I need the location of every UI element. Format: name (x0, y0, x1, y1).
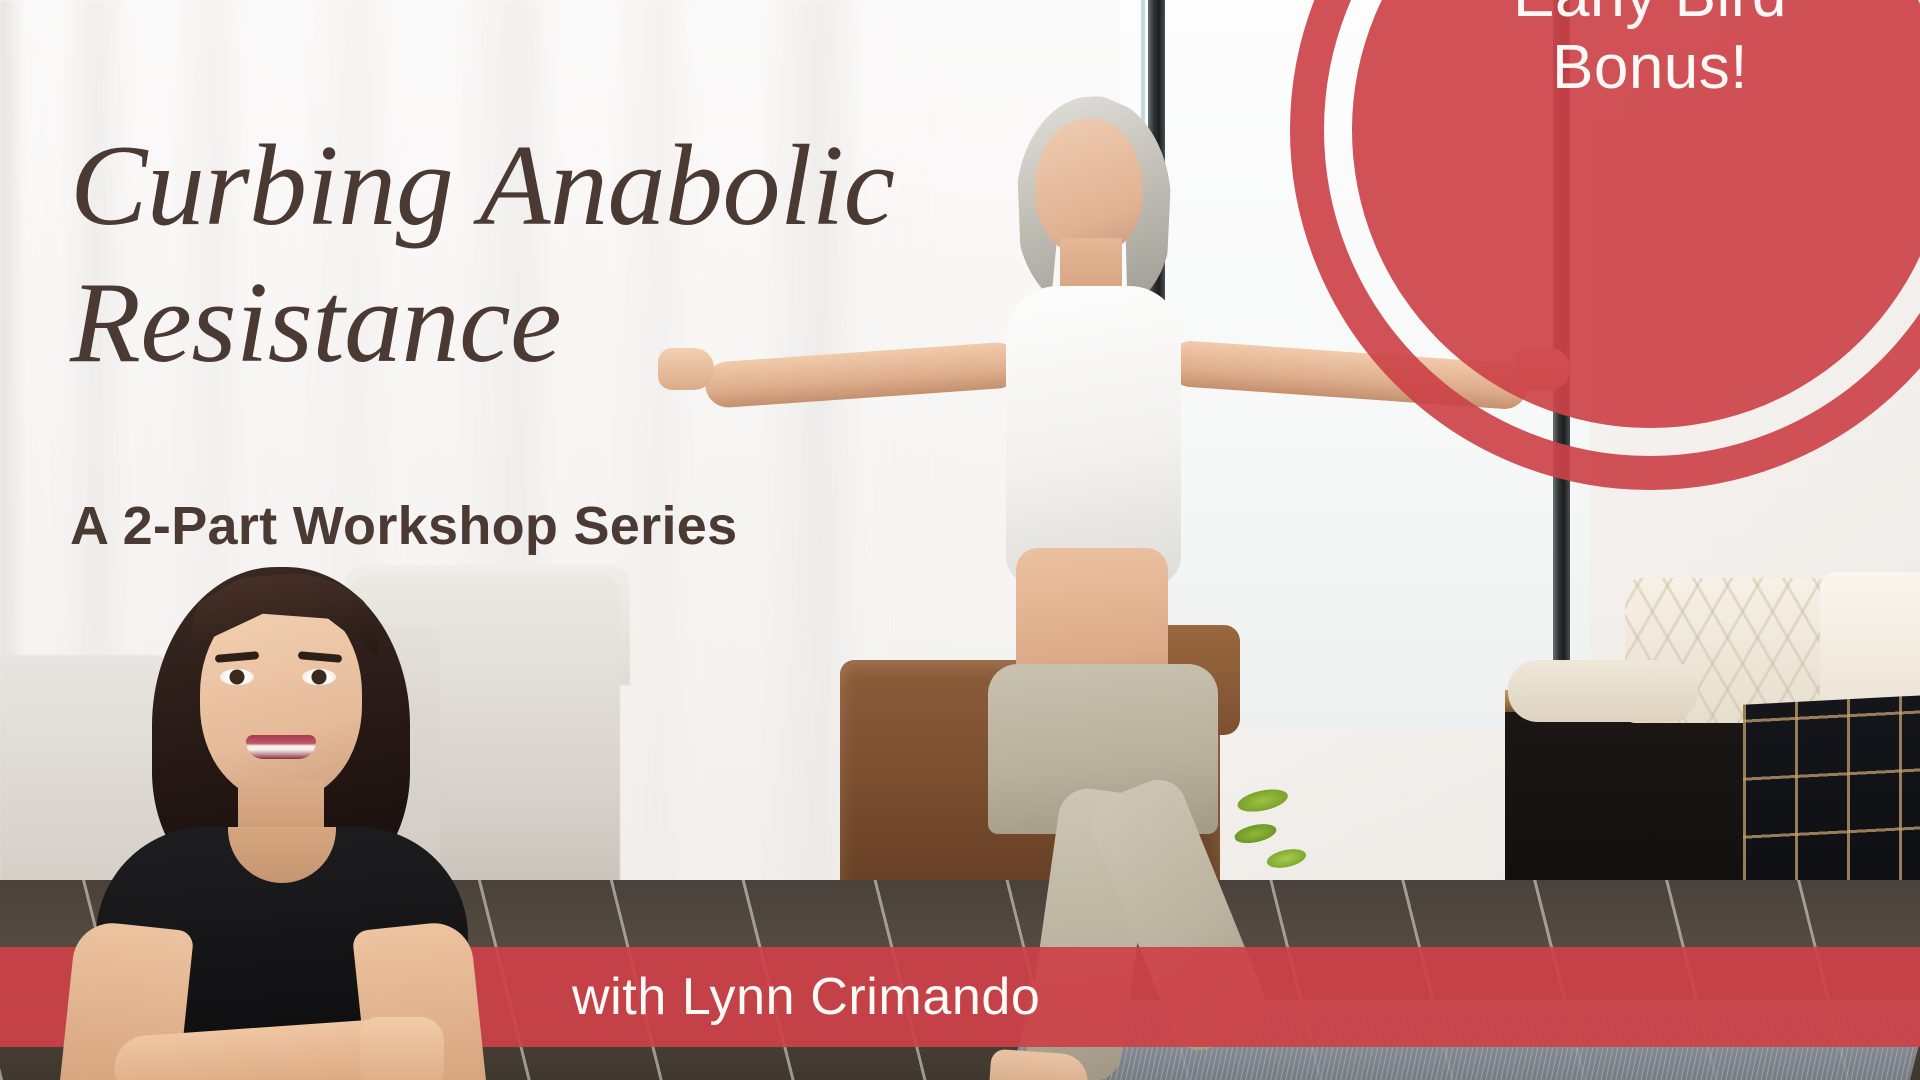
badge-line-1: Early Bird (1513, 0, 1787, 30)
badge-label: Early Bird Bonus! (1430, 0, 1870, 104)
cream-pillow (1508, 660, 1698, 722)
yoga-subject-head (1035, 118, 1143, 256)
headline-line-1: Curbing Anabolic (70, 118, 1050, 255)
headline-line-2: Resistance (70, 255, 1050, 392)
early-bird-badge: Early Bird Bonus! (1290, 0, 1920, 490)
presenter-band-label: with Lynn Crimando (572, 947, 1040, 1047)
presenter-eye (302, 669, 336, 685)
presenter-photo-cutout (60, 565, 490, 1080)
promotional-banner: Curbing Anabolic Resistance A 2-Part Wor… (0, 0, 1920, 1080)
subtitle: A 2-Part Workshop Series (70, 495, 737, 557)
badge-line-2: Bonus! (1430, 32, 1870, 104)
presenter-hand (360, 1017, 444, 1080)
presenter-smile (246, 735, 316, 759)
page-title: Curbing Anabolic Resistance (70, 118, 1050, 392)
presenter-eye (220, 669, 254, 685)
